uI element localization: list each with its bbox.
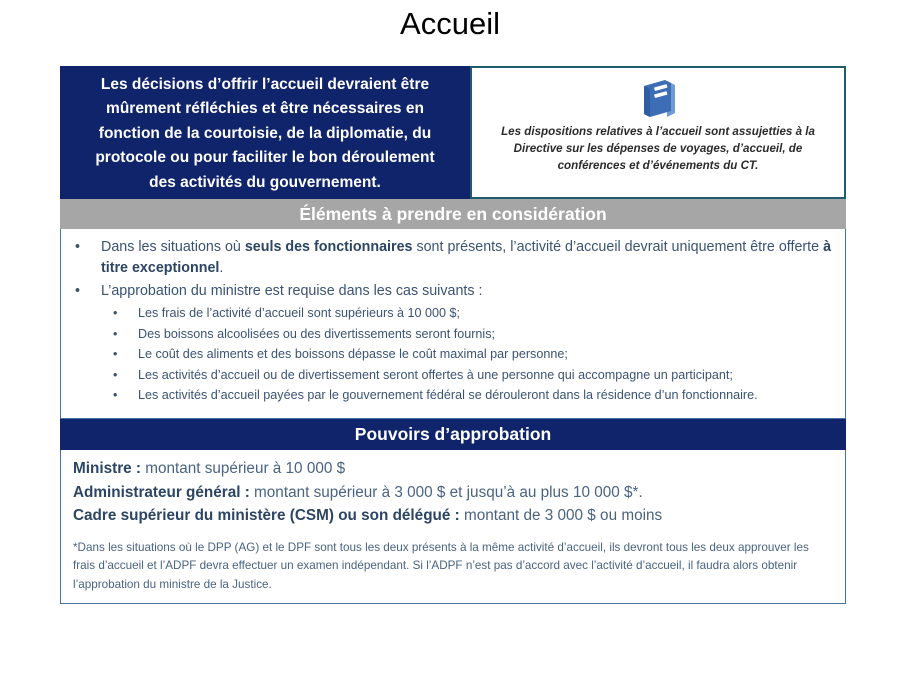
bullet-glyph: • [113, 344, 117, 365]
statement-panel: Les décisions d’offrir l’accueil devraie… [60, 66, 470, 199]
authorities-body: Ministre : montant supérieur à 10 000 $A… [60, 450, 846, 604]
authority-line: Administrateur général : montant supérie… [73, 481, 833, 505]
bullet-glyph: • [113, 365, 117, 386]
authority-amount: montant supérieur à 10 000 $ [141, 460, 345, 477]
consideration-subitem: •Les activités d’accueil ou de divertiss… [101, 365, 835, 386]
consideration-sublist: •Les frais de l’activité d’accueil sont … [101, 303, 835, 406]
authorities-lines: Ministre : montant supérieur à 10 000 $A… [73, 457, 833, 528]
consideration-subtext: Le coût des aliments et des boissons dép… [138, 347, 568, 361]
emphasis-text: seuls des fonctionnaires [245, 239, 413, 255]
statement-line-1: Les décisions d’offrir l’accueil devraie… [95, 73, 434, 98]
consideration-subtext: Des boissons alcoolisées ou des divertis… [138, 327, 495, 341]
authority-line: Cadre supérieur du ministère (CSM) ou so… [73, 504, 833, 528]
consideration-subitem: •Les frais de l’activité d’accueil sont … [101, 303, 835, 324]
authority-amount: montant de 3 000 $ ou moins [460, 507, 662, 524]
bullet-glyph: • [113, 385, 117, 406]
consideration-subitem: •Des boissons alcoolisées ou des diverti… [101, 324, 835, 345]
consideration-item: •Dans les situations où seuls des foncti… [65, 237, 835, 279]
bullet-glyph: • [113, 303, 117, 324]
authority-role: Cadre supérieur du ministère (CSM) ou so… [73, 507, 460, 524]
considerations-header: Éléments à prendre en considération [60, 199, 846, 229]
considerations-body: •Dans les situations où seuls des foncti… [60, 229, 846, 419]
authorities-footnote: *Dans les situations où le DPP (AG) et l… [73, 539, 833, 595]
plain-text: Dans les situations où [101, 239, 245, 255]
bullet-glyph: • [113, 324, 117, 345]
consideration-subtext: Les activités d’accueil payées par le go… [138, 388, 758, 402]
plain-text: . [219, 260, 223, 276]
consideration-subitem: •Le coût des aliments et des boissons dé… [101, 344, 835, 365]
page-title: Accueil [0, 4, 900, 44]
authority-role: Administrateur général : [73, 484, 250, 501]
bullet-glyph: • [75, 237, 80, 258]
authority-amount: montant supérieur à 3 000 $ et jusqu’à a… [250, 484, 643, 501]
statement-line-2: mûrement réfléchies et être nécessaires … [95, 97, 434, 122]
directive-note: Les dispositions relatives à l’accueil s… [488, 123, 828, 174]
statement-line-4: protocole ou pour faciliter le bon dérou… [95, 146, 434, 171]
plain-text: sont présents, l’activité d’accueil devr… [412, 239, 823, 255]
slide-canvas: Accueil Les décisions d’offrir l’accueil… [0, 0, 900, 675]
consideration-subtext: Les frais de l’activité d’accueil sont s… [138, 306, 460, 320]
plain-text: L’approbation du ministre est requise da… [101, 283, 482, 299]
consideration-text: Dans les situations où seuls des fonctio… [101, 239, 831, 276]
consideration-subitem: •Les activités d’accueil payées par le g… [101, 385, 835, 406]
consideration-text: L’approbation du ministre est requise da… [101, 283, 482, 299]
authority-role: Ministre : [73, 460, 141, 477]
statement-line-5: des activités du gouvernement. [95, 171, 434, 196]
consideration-subtext: Les activités d’accueil ou de divertisse… [138, 368, 733, 382]
consideration-item: •L’approbation du ministre est requise d… [65, 281, 835, 406]
directive-panel: Les dispositions relatives à l’accueil s… [470, 66, 846, 199]
top-row: Les décisions d’offrir l’accueil devraie… [60, 66, 846, 199]
authorities-header: Pouvoirs d’approbation [60, 419, 846, 450]
considerations-list: •Dans les situations où seuls des foncti… [65, 237, 835, 406]
statement-text: Les décisions d’offrir l’accueil devraie… [95, 73, 434, 196]
authority-line: Ministre : montant supérieur à 10 000 $ [73, 457, 833, 481]
book-icon [634, 79, 682, 119]
bullet-glyph: • [75, 281, 80, 302]
content-frame: Les décisions d’offrir l’accueil devraie… [60, 66, 846, 604]
statement-line-3: fonction de la courtoisie, de la diploma… [95, 122, 434, 147]
